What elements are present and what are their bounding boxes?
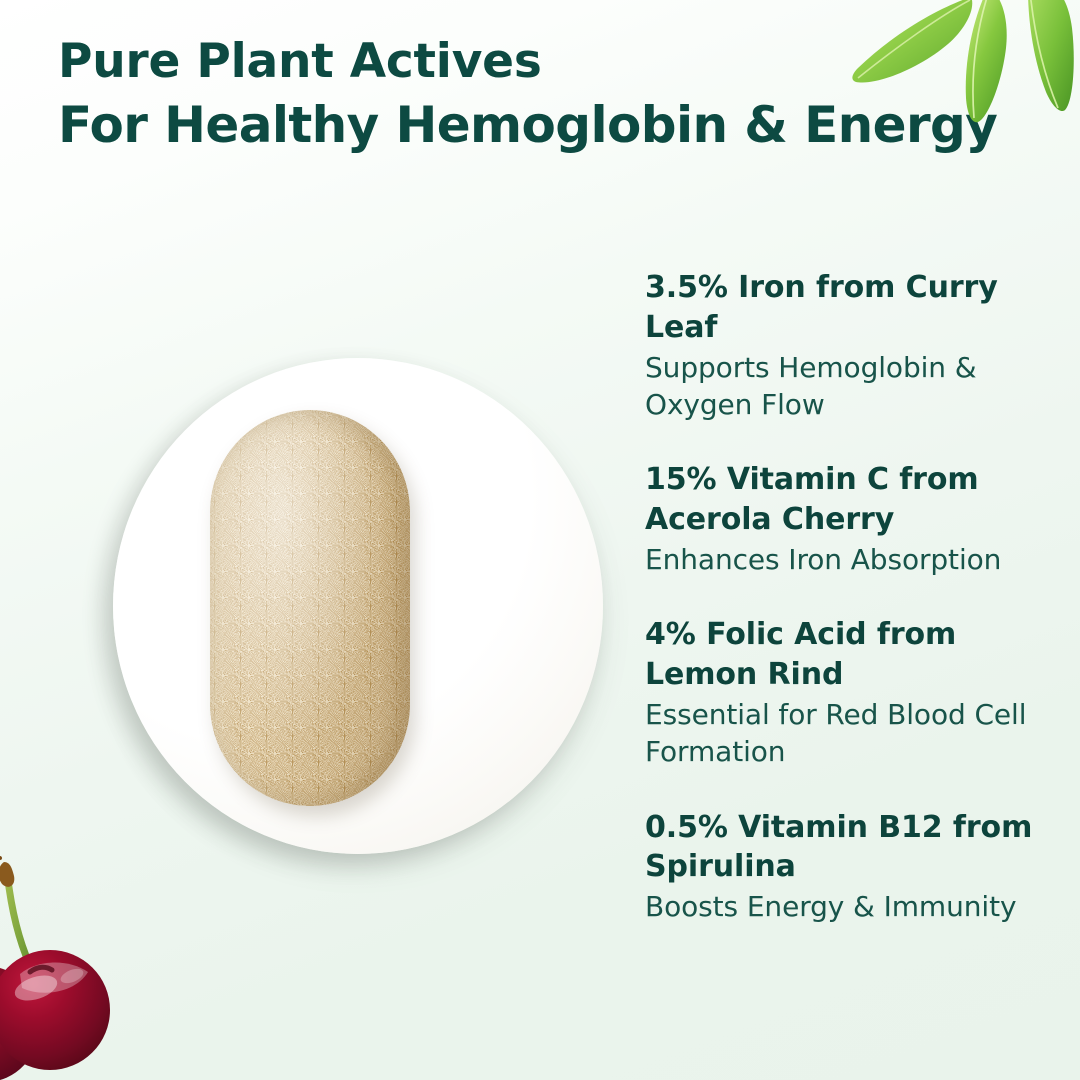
promo-banner: Pure Plant Actives For Healthy Hemoglobi… — [0, 0, 1080, 1080]
list-item: 0.5% Vitamin B12 from Spirulina Boosts E… — [645, 808, 1045, 926]
list-item: 4% Folic Acid from Lemon Rind Essential … — [645, 615, 1045, 770]
benefit-title: 3.5% Iron from Curry Leaf — [645, 268, 1045, 348]
benefit-title: 0.5% Vitamin B12 from Spirulina — [645, 808, 1045, 888]
benefit-title: 4% Folic Acid from Lemon Rind — [645, 615, 1045, 695]
benefit-description: Enhances Iron Absorption — [645, 541, 1045, 578]
headline-line-2: For Healthy Hemoglobin & Energy — [58, 97, 1058, 154]
cherry-icon — [0, 842, 154, 1080]
benefit-list: 3.5% Iron from Curry Leaf Supports Hemog… — [645, 268, 1045, 926]
product-image — [113, 358, 603, 854]
headline-line-1: Pure Plant Actives — [58, 36, 1058, 89]
list-item: 3.5% Iron from Curry Leaf Supports Hemog… — [645, 268, 1045, 423]
benefit-title: 15% Vitamin C from Acerola Cherry — [645, 460, 1045, 540]
benefit-description: Boosts Energy & Immunity — [645, 888, 1045, 925]
list-item: 15% Vitamin C from Acerola Cherry Enhanc… — [645, 460, 1045, 578]
benefit-description: Supports Hemoglobin & Oxygen Flow — [645, 349, 1045, 423]
page-title: Pure Plant Actives For Healthy Hemoglobi… — [58, 36, 1058, 154]
supplement-tablet-icon — [210, 410, 410, 806]
benefit-description: Essential for Red Blood Cell Formation — [645, 696, 1045, 770]
